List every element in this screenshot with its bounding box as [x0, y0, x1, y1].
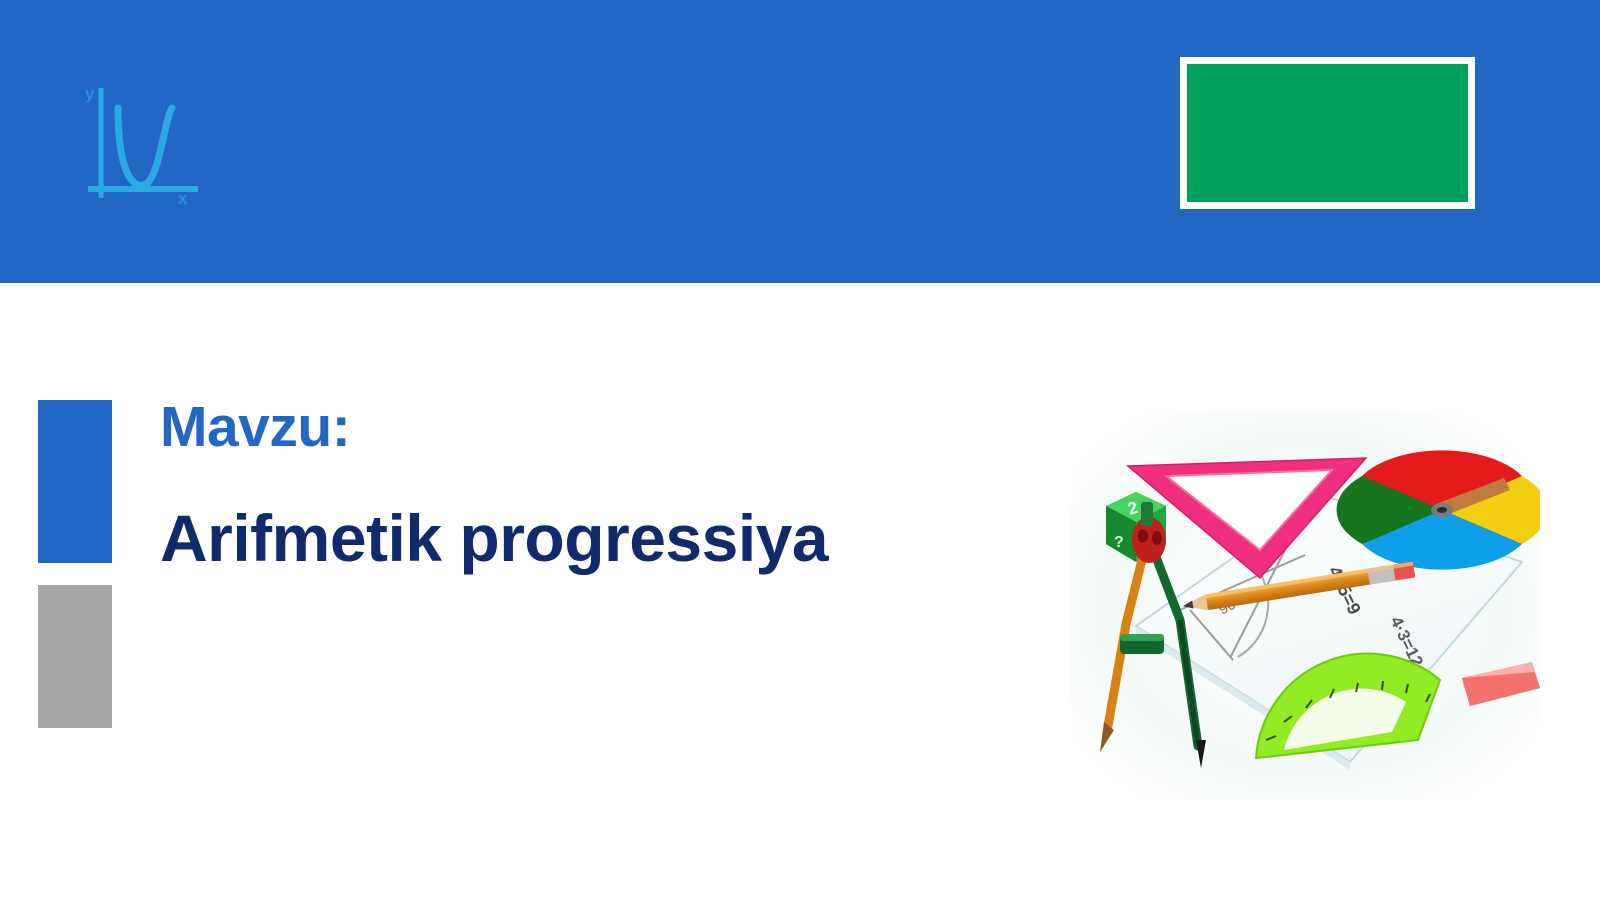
math-tools-illustration: 90° 4+5=9 4·3=12 2 ? 6: [1070, 410, 1540, 800]
accent-bar-blue: [38, 400, 112, 563]
x-axis-label-glyph: x: [178, 189, 188, 205]
svg-text:x: x: [178, 189, 188, 205]
svg-text:y: y: [85, 84, 95, 103]
y-axis-label-glyph: y: [85, 84, 95, 103]
green-placeholder-card[interactable]: [1180, 57, 1475, 209]
page-subtitle-label: Mavzu:: [160, 398, 1040, 458]
title-block: Mavzu: Arifmetik progressiya: [160, 398, 1040, 573]
die-face-left: ?: [1114, 534, 1124, 551]
accent-bar-gray: [38, 585, 112, 728]
green-card-fill: [1187, 64, 1468, 202]
page-title: Arifmetik progressiya: [160, 504, 1040, 573]
parabola-graph-icon: y x: [80, 80, 208, 205]
slide-root: y x Mavzu: Arifmetik progressiya: [0, 0, 1600, 900]
